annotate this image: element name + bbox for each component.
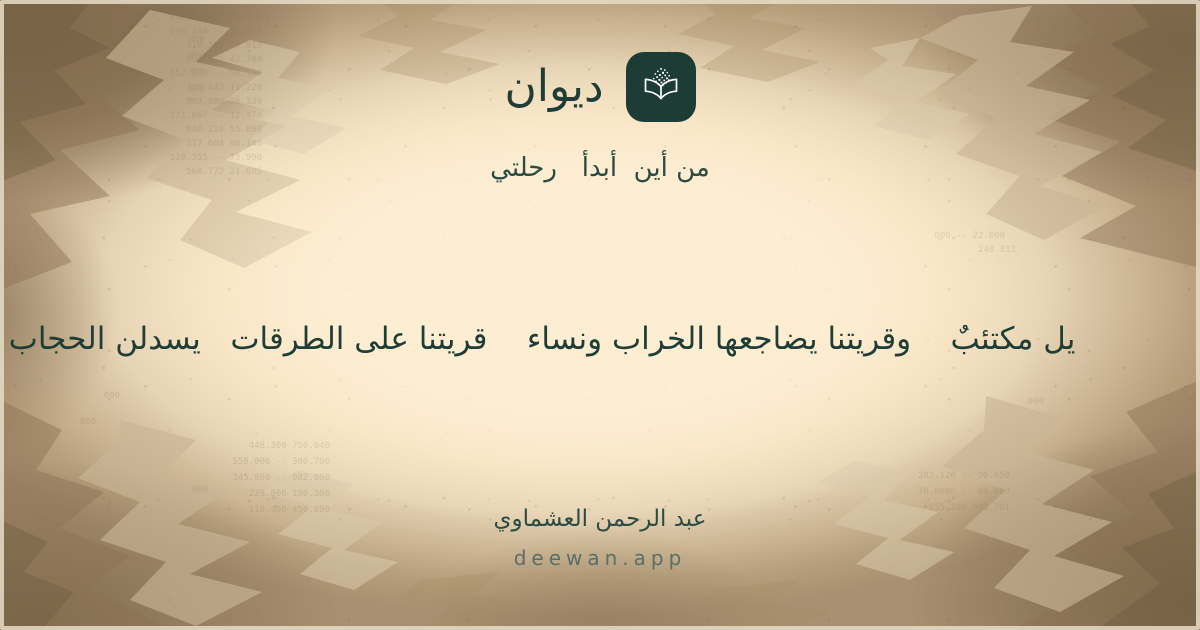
poster-content: ديوان من أين أبدأ رحلتي ‏يل مكتئبٌ وقريت… bbox=[0, 0, 1200, 630]
open-book-with-sparkles-icon bbox=[626, 52, 696, 122]
poem-verse-container: ‏يل مكتئبٌ وقريتنا يضاجعها الخراب ونساء … bbox=[0, 305, 1200, 375]
poem-verse: ‏يل مكتئبٌ وقريتنا يضاجعها الخراب ونساء … bbox=[9, 319, 1076, 361]
poem-title: من أين أبدأ رحلتي bbox=[490, 152, 710, 186]
site-url: deewan.app bbox=[0, 546, 1200, 570]
brand-name: ديوان bbox=[504, 65, 603, 109]
poster-footer: عبد الرحمن العشماوي deewan.app bbox=[0, 505, 1200, 570]
poem-author: عبد الرحمن العشماوي bbox=[0, 505, 1200, 535]
poem-poster: 80.300 -- 449.500 63.022 -- 096.240 70.0… bbox=[0, 0, 1200, 630]
brand-header: ديوان bbox=[504, 52, 695, 122]
